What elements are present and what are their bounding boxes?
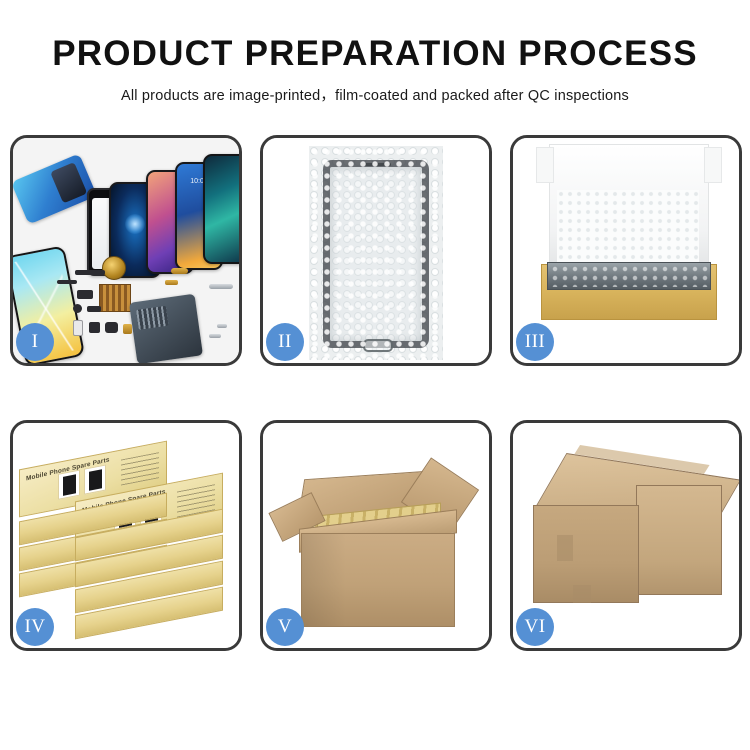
wrapped-phone-screen [323, 160, 429, 348]
sensor-cable-part [57, 280, 77, 284]
steps-grid: 10:08 [10, 135, 742, 683]
page-title: PRODUCT PREPARATION PROCESS [0, 36, 750, 73]
speaker-part [73, 304, 82, 313]
box-stack: Mobile Phone Spare Parts Mobile Phone Sp… [19, 445, 235, 629]
gold-screw-plate-part [123, 324, 132, 334]
blue-adhesive-screen-part [13, 153, 97, 224]
sim-tray-part [73, 320, 83, 336]
home-button-outline [363, 339, 393, 352]
connector-grid-part [99, 284, 131, 312]
carton-body [301, 533, 455, 627]
camera-module-part [77, 290, 93, 299]
logic-board-part [129, 294, 203, 363]
copper-coil-part [102, 256, 126, 280]
silver-antenna-part [209, 284, 233, 289]
step-badge-1: I [16, 323, 54, 361]
step-badge-6: VI [516, 608, 554, 646]
step-panel-6: VI [510, 420, 742, 651]
gold-button-part [171, 268, 188, 274]
step-badge-2: II [266, 323, 304, 361]
gold-bracket-part [165, 280, 178, 285]
screw-part [217, 324, 227, 328]
step-badge-3: III [516, 323, 554, 361]
carton-side-face [636, 485, 722, 595]
white-foam-liner [557, 190, 699, 268]
step-badge-4: IV [16, 608, 54, 646]
screw-part [209, 334, 221, 338]
phone-teal-wave [203, 154, 239, 264]
box-product-photo [58, 470, 80, 500]
page-subtitle: All products are image-printed，film-coat… [0, 84, 750, 105]
bubble-wrap-sheet [309, 146, 443, 360]
step-panel-3: III [510, 135, 742, 366]
step-badge-5: V [266, 608, 304, 646]
step-panel-2: II [260, 135, 492, 366]
step-panel-5: V [260, 420, 492, 651]
vibrator-part [87, 306, 101, 312]
flex-cable-part [75, 270, 105, 275]
infographic-root: PRODUCT PREPARATION PROCESS All products… [0, 0, 750, 750]
charging-port-part [105, 322, 118, 333]
step-panel-1: 10:08 [10, 135, 242, 366]
chip-part [89, 322, 100, 333]
step-panel-4: Mobile Phone Spare Parts Mobile Phone Sp… [10, 420, 242, 651]
tape-tab-upper [557, 535, 573, 561]
packed-screen-in-box [547, 262, 711, 290]
box-product-photo [84, 464, 106, 494]
tape-tab-lower [573, 585, 591, 603]
header: PRODUCT PREPARATION PROCESS All products… [0, 0, 750, 105]
box-spec-lines [121, 452, 159, 485]
